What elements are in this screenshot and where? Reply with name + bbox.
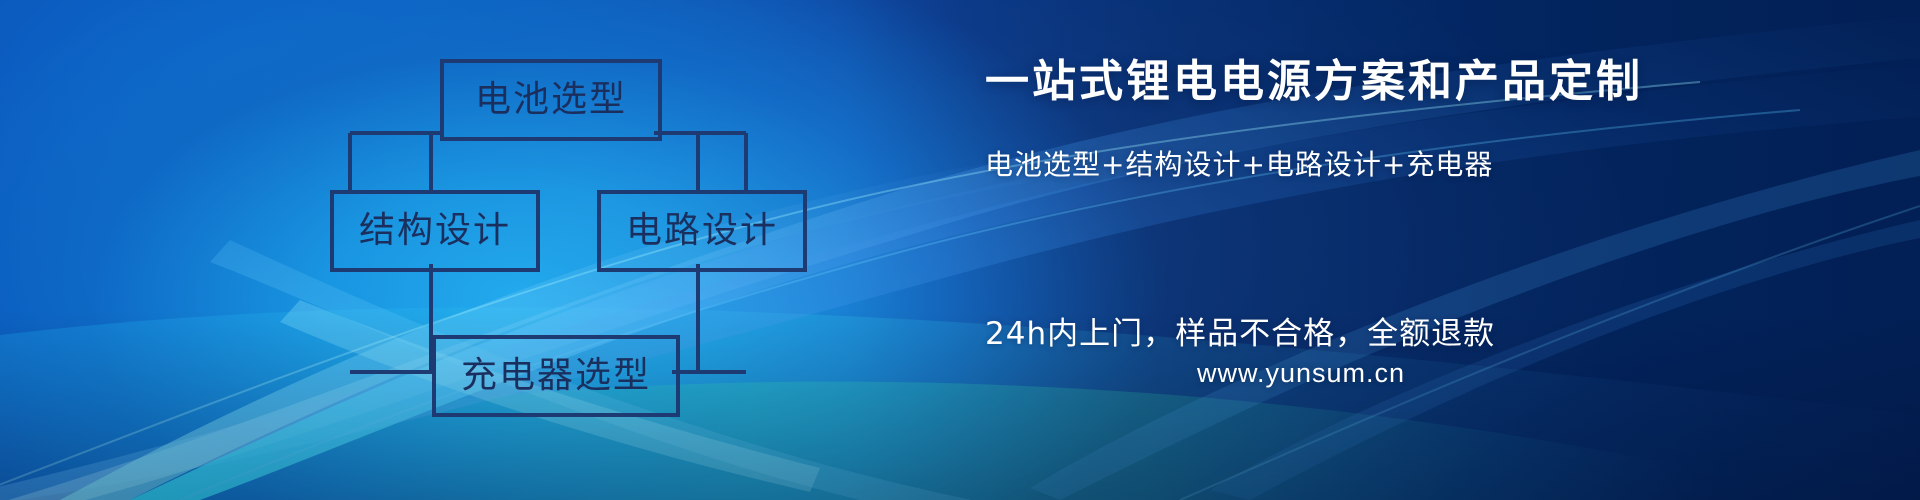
diagram-node-charger[interactable]: 充电器选型 (432, 335, 680, 417)
website-url[interactable]: www.yunsum.cn (1197, 358, 1405, 389)
diagram-node-battery-label: 电池选型 (475, 82, 627, 118)
diagram-node-structure-label: 结构设计 (359, 213, 511, 249)
diagram-node-charger-label: 充电器选型 (461, 358, 651, 394)
subheadline: 电池选型+结构设计+电路设计+充电器 (985, 148, 1705, 182)
diagram-node-circuit-label: 电路设计 (626, 213, 778, 249)
promotional-banner: 电池选型 结构设计 电路设计 充电器选型 一站式锂电电源方案和产品定制 电池选型… (0, 0, 1920, 500)
promo-guarantee-text: 24h内上门，样品不合格，全额退款 (985, 308, 1495, 353)
diagram-node-circuit[interactable]: 电路设计 (597, 190, 807, 272)
process-diagram: 电池选型 结构设计 电路设计 充电器选型 (330, 45, 970, 445)
diagram-node-battery[interactable]: 电池选型 (440, 59, 662, 141)
diagram-node-structure[interactable]: 结构设计 (330, 190, 540, 272)
banner-copy: 一站式锂电电源方案和产品定制 电池选型+结构设计+电路设计+充电器 24h内上门… (985, 58, 1705, 182)
headline: 一站式锂电电源方案和产品定制 (985, 58, 1705, 106)
